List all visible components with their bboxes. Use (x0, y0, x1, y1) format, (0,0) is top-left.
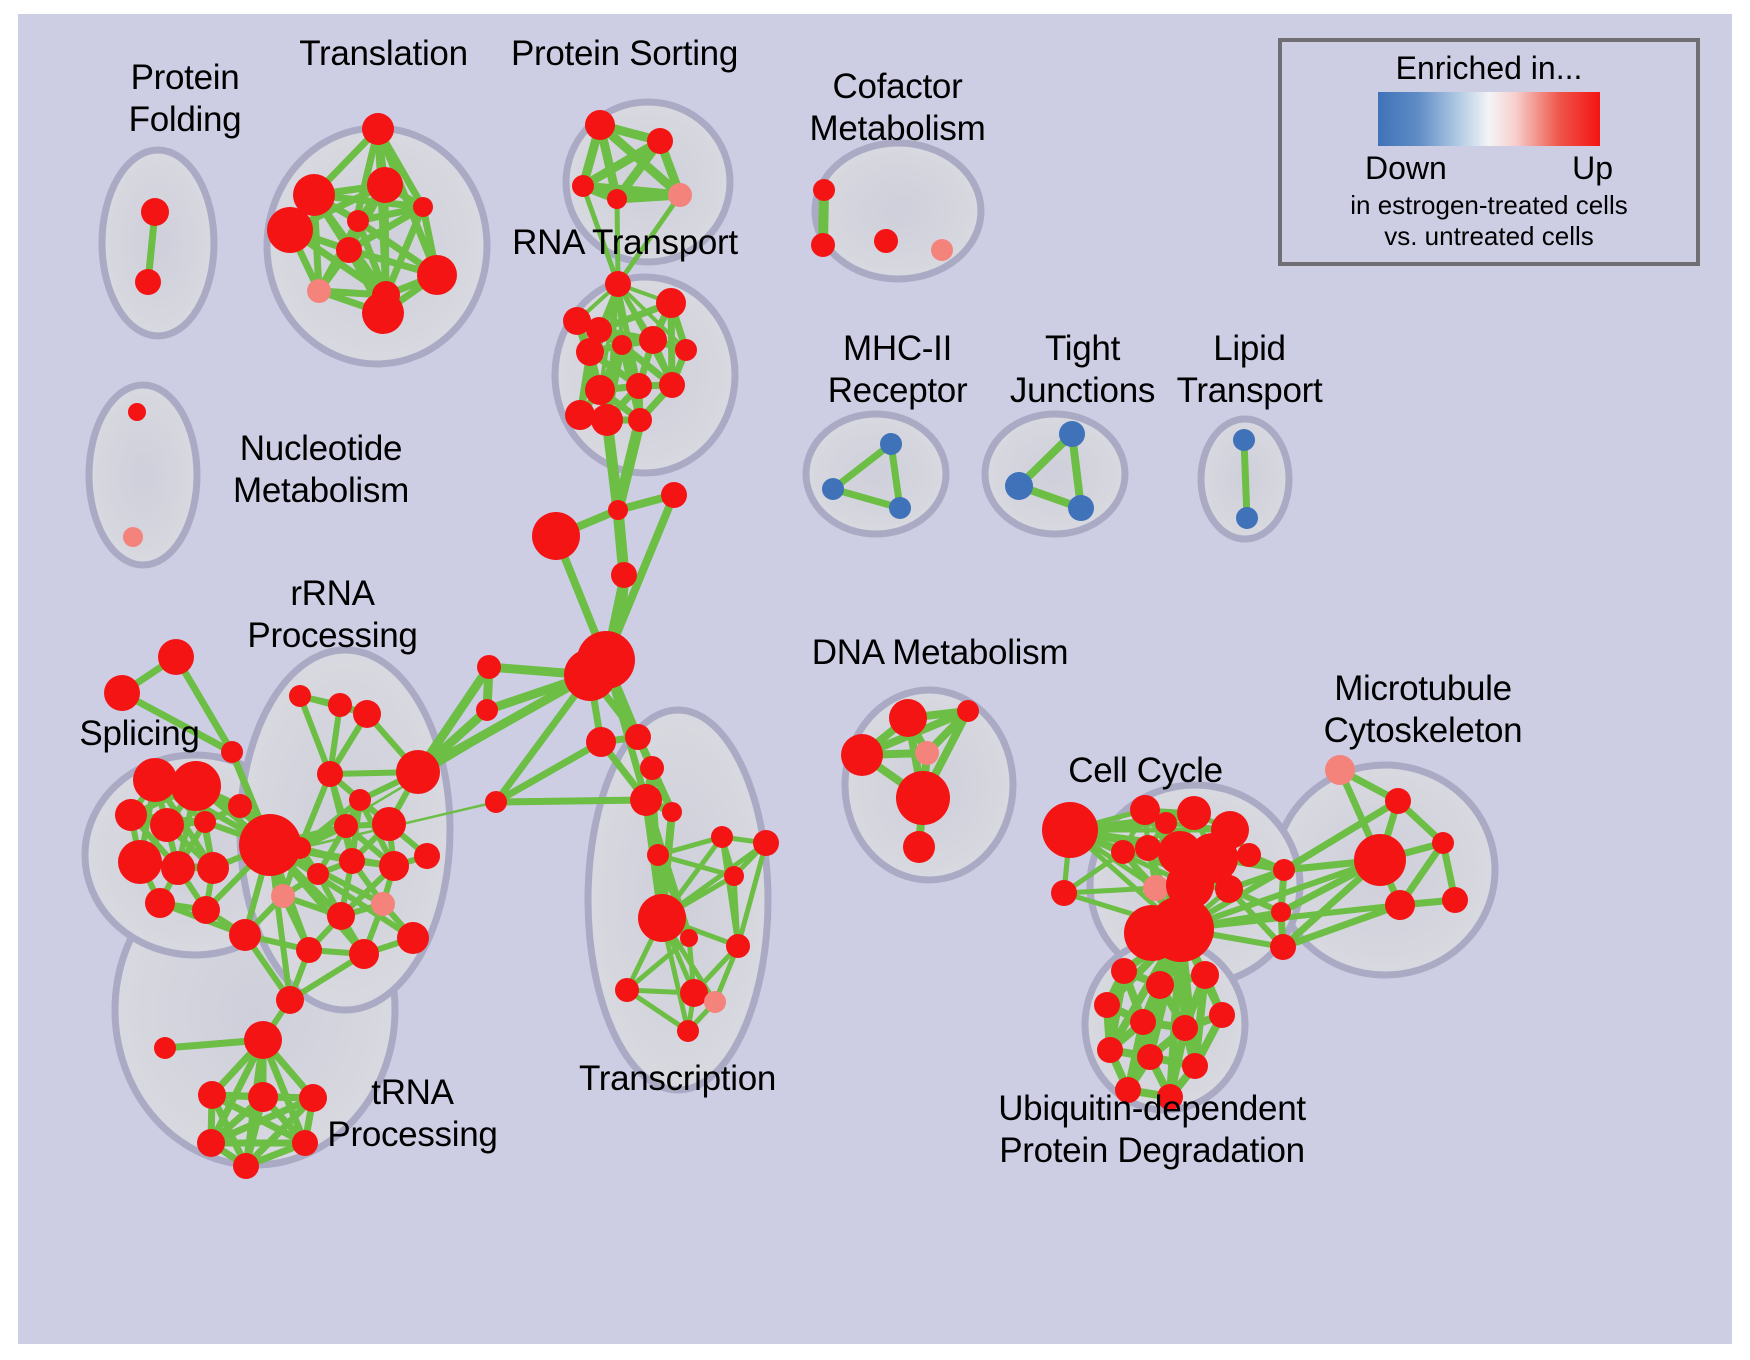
gene-set-node (903, 831, 935, 863)
gene-set-node (1273, 859, 1295, 881)
gene-set-node (607, 189, 627, 209)
legend-subtitle: in estrogen-treated cells vs. untreated … (1350, 190, 1627, 252)
gene-set-node (1325, 755, 1355, 785)
gene-set-node (248, 1082, 278, 1112)
gene-set-node (626, 373, 652, 399)
gene-set-node (565, 400, 595, 430)
gene-set-node (197, 1129, 225, 1157)
gene-set-node (896, 771, 950, 825)
gene-set-node (367, 167, 403, 203)
gene-set-node (413, 197, 433, 217)
gene-set-node (145, 888, 175, 918)
gene-set-node (244, 1021, 282, 1059)
gene-set-node (576, 338, 604, 366)
gene-set-node (349, 789, 371, 811)
gene-set-node (1059, 421, 1085, 447)
gene-set-node (336, 237, 362, 263)
gene-set-node (813, 179, 835, 201)
gene-set-node (353, 700, 381, 728)
gene-set-node (228, 794, 252, 818)
gene-set-node (133, 758, 177, 802)
gene-set-node (371, 892, 395, 916)
gene-set-node (1005, 472, 1033, 500)
gene-set-node (704, 991, 726, 1013)
gene-set-node (1215, 875, 1243, 903)
cluster-label-transcription: Transcription (560, 1058, 795, 1100)
gene-set-node (307, 279, 331, 303)
gene-set-node (1385, 788, 1411, 814)
gene-set-node (339, 848, 365, 874)
network-figure: Protein Folding Translation Protein Sort… (0, 0, 1750, 1360)
gene-set-node (586, 727, 616, 757)
gene-set-node (931, 239, 953, 261)
gene-set-node (680, 979, 708, 1007)
gene-set-node (414, 843, 440, 869)
cluster-label-microtubule: Microtubule Cytoskeleton (1298, 668, 1548, 752)
gene-set-node (880, 433, 902, 455)
cluster-label-rrna-processing: rRNA Processing (230, 573, 435, 657)
gene-set-node (397, 922, 429, 954)
gene-set-node (564, 649, 616, 701)
gene-set-node (1385, 890, 1415, 920)
gene-set-node (1432, 832, 1454, 854)
gene-set-node (612, 335, 632, 355)
gene-set-node (1236, 507, 1258, 529)
cluster-label-nucleotide-metabolism: Nucleotide Metabolism (196, 428, 446, 512)
gene-set-node (656, 288, 686, 318)
gene-set-node (647, 844, 669, 866)
gene-set-node (915, 741, 939, 765)
gene-set-node (1177, 796, 1211, 830)
cluster-label-ubiquitin: Ubiquitin-dependent Protein Degradation (992, 1088, 1312, 1172)
legend-down-label: Down (1365, 148, 1447, 188)
gene-set-node (1137, 1044, 1163, 1070)
gene-set-node (659, 372, 685, 398)
gene-set-node (1354, 834, 1406, 886)
gene-set-node (327, 902, 355, 930)
gene-set-node (154, 1037, 176, 1059)
gene-set-node (372, 807, 406, 841)
gene-set-node (296, 937, 322, 963)
cluster-label-trna-processing: tRNA Processing (310, 1072, 515, 1156)
legend-color-gradient (1378, 92, 1600, 146)
gene-set-node (379, 851, 409, 881)
gene-set-node (328, 693, 352, 717)
gene-set-node (118, 840, 162, 884)
gene-set-node (611, 562, 637, 588)
gene-set-node (1051, 880, 1077, 906)
cluster-label-protein-folding: Protein Folding (80, 57, 290, 141)
cluster-label-cell-cycle: Cell Cycle (1043, 750, 1248, 792)
gene-set-node (753, 830, 779, 856)
gene-set-node (362, 292, 404, 334)
gene-set-node (239, 814, 301, 876)
gene-set-node (289, 685, 311, 707)
legend-subtitle-line1: in estrogen-treated cells (1350, 190, 1627, 221)
cluster-label-dna-metabolism: DNA Metabolism (800, 632, 1080, 674)
gene-set-node (1068, 495, 1094, 521)
gene-set-node (396, 750, 440, 794)
gene-set-node (532, 512, 580, 560)
gene-set-node (563, 307, 591, 335)
gene-set-node (889, 699, 927, 737)
gene-set-node (1146, 971, 1174, 999)
cluster-label-rna-transport: RNA Transport (500, 222, 750, 264)
gene-set-node (1209, 1002, 1235, 1028)
gene-set-node (347, 210, 369, 232)
cluster-label-cofactor-metabolism: Cofactor Metabolism (790, 66, 1005, 150)
gene-set-node (675, 339, 697, 361)
gene-set-node (572, 175, 594, 197)
gene-set-node (192, 896, 220, 924)
gene-set-node (811, 233, 835, 257)
gene-set-node (1237, 843, 1261, 867)
gene-set-node (585, 110, 615, 140)
gene-set-node (128, 403, 146, 421)
gene-set-node (229, 919, 261, 951)
gene-set-node (1135, 835, 1161, 861)
gene-set-node (334, 814, 358, 838)
gene-set-node (150, 808, 184, 842)
gene-set-node (639, 326, 667, 354)
gene-set-node (198, 1081, 226, 1109)
legend-title: Enriched in... (1396, 48, 1583, 88)
gene-set-node (726, 934, 750, 958)
blob-protein-folding (102, 150, 214, 336)
gene-set-node (957, 700, 979, 722)
gene-set-node (104, 675, 140, 711)
gene-set-node (1130, 1009, 1156, 1035)
gene-set-node (267, 207, 313, 253)
gene-set-node (661, 482, 687, 508)
gene-set-node (668, 183, 692, 207)
legend-subtitle-line2: vs. untreated cells (1350, 221, 1627, 252)
gene-set-node (711, 826, 733, 848)
gene-set-node (724, 866, 744, 886)
gene-set-node (349, 939, 379, 969)
cluster-label-tight-junctions: Tight Junctions (985, 328, 1180, 412)
gene-set-node (194, 811, 216, 833)
cluster-label-translation: Translation (266, 33, 501, 75)
gene-set-node (1094, 992, 1120, 1018)
legend: Enriched in... Down Up in estrogen-treat… (1278, 38, 1700, 266)
gene-set-node (1111, 840, 1135, 864)
gene-set-node (135, 269, 161, 295)
gene-set-node (115, 799, 147, 831)
gene-set-node (608, 500, 628, 520)
gene-set-node (1097, 1037, 1123, 1063)
gene-set-node (889, 497, 911, 519)
gene-set-node (1143, 875, 1169, 901)
cluster-label-splicing: Splicing (52, 713, 227, 755)
gene-set-node (1172, 1015, 1198, 1041)
gene-set-node (141, 198, 169, 226)
gene-set-node (628, 408, 652, 432)
gene-set-node (591, 404, 623, 436)
gene-set-node (677, 1020, 699, 1042)
gene-set-node (585, 375, 615, 405)
gene-set-node (233, 1153, 259, 1179)
gene-set-node (822, 478, 844, 500)
gene-set-node (662, 802, 682, 822)
gene-set-node (485, 791, 507, 813)
gene-set-node (161, 851, 195, 885)
gene-set-node (640, 756, 664, 780)
gene-set-node (171, 761, 221, 811)
blob-mhc-ii-receptor (806, 414, 946, 534)
gene-set-node (362, 113, 394, 145)
gene-set-node (605, 271, 631, 297)
gene-set-node (1271, 902, 1291, 922)
gene-set-node (680, 929, 698, 947)
cluster-label-protein-sorting: Protein Sorting (492, 33, 757, 75)
blob-cofactor-metabolism (815, 143, 981, 279)
gene-set-node (1270, 934, 1296, 960)
gene-set-node (417, 255, 457, 295)
gene-set-node (625, 724, 651, 750)
gene-set-node (276, 986, 304, 1014)
gene-set-node (615, 978, 639, 1002)
gene-set-node (477, 655, 501, 679)
gene-set-node (874, 229, 898, 253)
gene-set-node (197, 852, 229, 884)
gene-set-node (1124, 905, 1180, 961)
gene-set-node (1191, 961, 1219, 989)
gene-set-node (271, 884, 295, 908)
gene-set-node (307, 863, 329, 885)
gene-set-node (647, 128, 673, 154)
gene-set-node (1233, 429, 1255, 451)
legend-up-label: Up (1572, 148, 1613, 188)
gene-set-node (1442, 887, 1468, 913)
legend-endpoints: Down Up (1365, 148, 1613, 188)
gene-set-node (476, 699, 498, 721)
gene-set-node (1182, 1053, 1208, 1079)
gene-set-node (1111, 958, 1137, 984)
gene-set-node (123, 527, 143, 547)
gene-set-node (158, 639, 194, 675)
gene-set-node (630, 784, 662, 816)
gene-set-node (638, 894, 686, 942)
gene-set-node (317, 761, 343, 787)
cluster-label-mhc-ii-receptor: MHC-II Receptor (800, 328, 995, 412)
gene-set-node (1042, 802, 1098, 858)
gene-set-node (841, 734, 883, 776)
gene-set-node (1155, 812, 1177, 834)
cluster-label-lipid-transport: Lipid Transport (1152, 328, 1347, 412)
blob-tight-junctions (985, 414, 1125, 534)
